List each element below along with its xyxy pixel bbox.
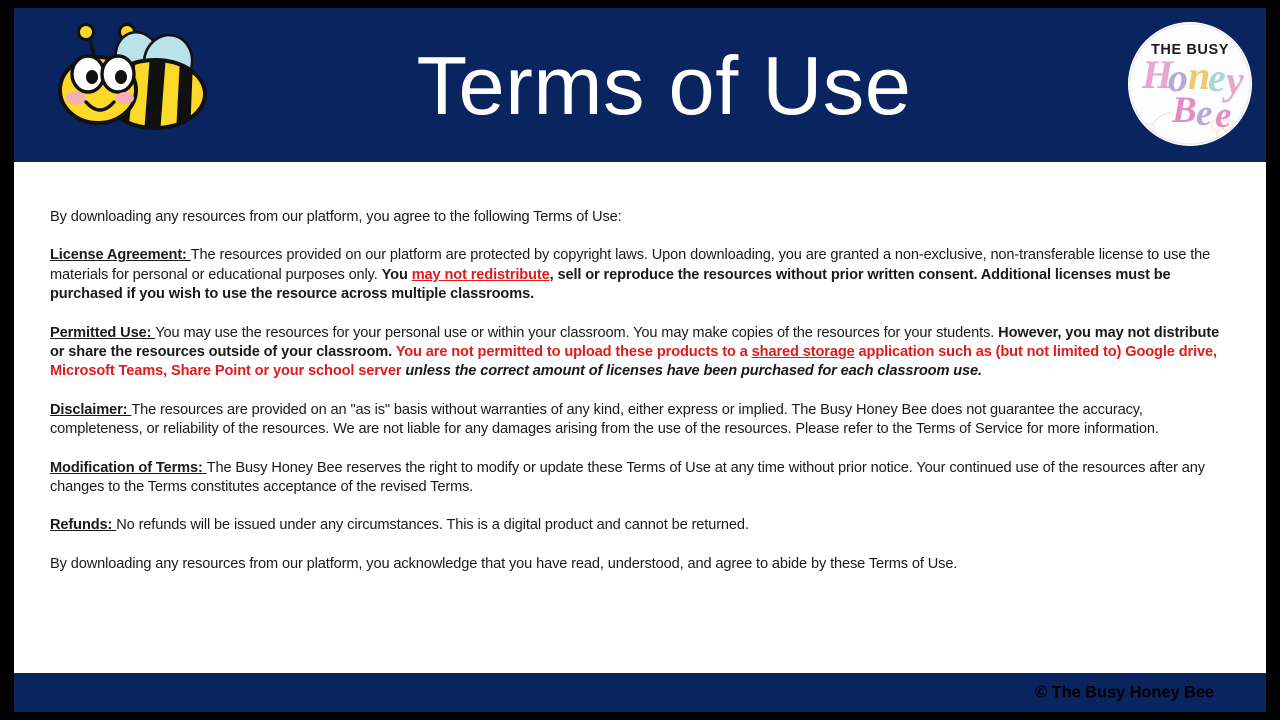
disclaimer-heading: Disclaimer: bbox=[50, 402, 131, 418]
copyright-credit: © The Busy Honey Bee bbox=[1035, 683, 1214, 702]
closing-text: By downloading any resources from our pl… bbox=[50, 556, 957, 572]
section-license-agreement: License Agreement: The resources provide… bbox=[50, 246, 1230, 304]
slide-footer: © The Busy Honey Bee bbox=[14, 673, 1266, 712]
license-agreement-heading: License Agreement: bbox=[50, 247, 191, 263]
permitted-use-text: You may use the resources for your perso… bbox=[155, 325, 998, 341]
intro-paragraph: By downloading any resources from our pl… bbox=[50, 208, 1230, 227]
brand-logo-badge: THE BUSY H o n e y B e e bbox=[1128, 22, 1252, 146]
shared-storage-highlight: shared storage bbox=[752, 344, 855, 360]
slide-canvas: Terms of Use THE BUSY H bbox=[14, 8, 1266, 712]
disclaimer-text: The resources are provided on an "as is"… bbox=[50, 402, 1159, 437]
refunds-text: No refunds will be issued under any circ… bbox=[116, 517, 749, 533]
may-not-redistribute-highlight: may not redistribute bbox=[412, 267, 550, 283]
section-modification-of-terms: Modification of Terms: The Busy Honey Be… bbox=[50, 459, 1230, 498]
bee-mascot-icon bbox=[52, 22, 227, 150]
section-refunds: Refunds: No refunds will be issued under… bbox=[50, 516, 1230, 535]
svg-text:B: B bbox=[1171, 90, 1197, 131]
modification-of-terms-text: The Busy Honey Bee reserves the right to… bbox=[50, 460, 1205, 495]
modification-of-terms-heading: Modification of Terms: bbox=[50, 460, 207, 476]
permitted-use-heading: Permitted Use: bbox=[50, 325, 155, 341]
section-permitted-use: Permitted Use: You may use the resources… bbox=[50, 324, 1230, 382]
refunds-heading: Refunds: bbox=[50, 517, 116, 533]
permitted-use-bold-italic: unless the correct amount of licenses ha… bbox=[405, 363, 982, 379]
section-disclaimer: Disclaimer: The resources are provided o… bbox=[50, 401, 1230, 440]
closing-paragraph: By downloading any resources from our pl… bbox=[50, 555, 1230, 574]
page-title: Terms of Use bbox=[254, 8, 1074, 162]
intro-text: By downloading any resources from our pl… bbox=[50, 209, 622, 225]
terms-body: By downloading any resources from our pl… bbox=[50, 208, 1230, 593]
svg-text:e: e bbox=[1215, 95, 1231, 136]
license-agreement-bold-1: You bbox=[382, 267, 412, 283]
permitted-use-red-1: You are not permitted to upload these pr… bbox=[396, 344, 752, 360]
slide-header: Terms of Use THE BUSY H bbox=[14, 8, 1266, 162]
svg-text:e: e bbox=[1196, 93, 1212, 134]
